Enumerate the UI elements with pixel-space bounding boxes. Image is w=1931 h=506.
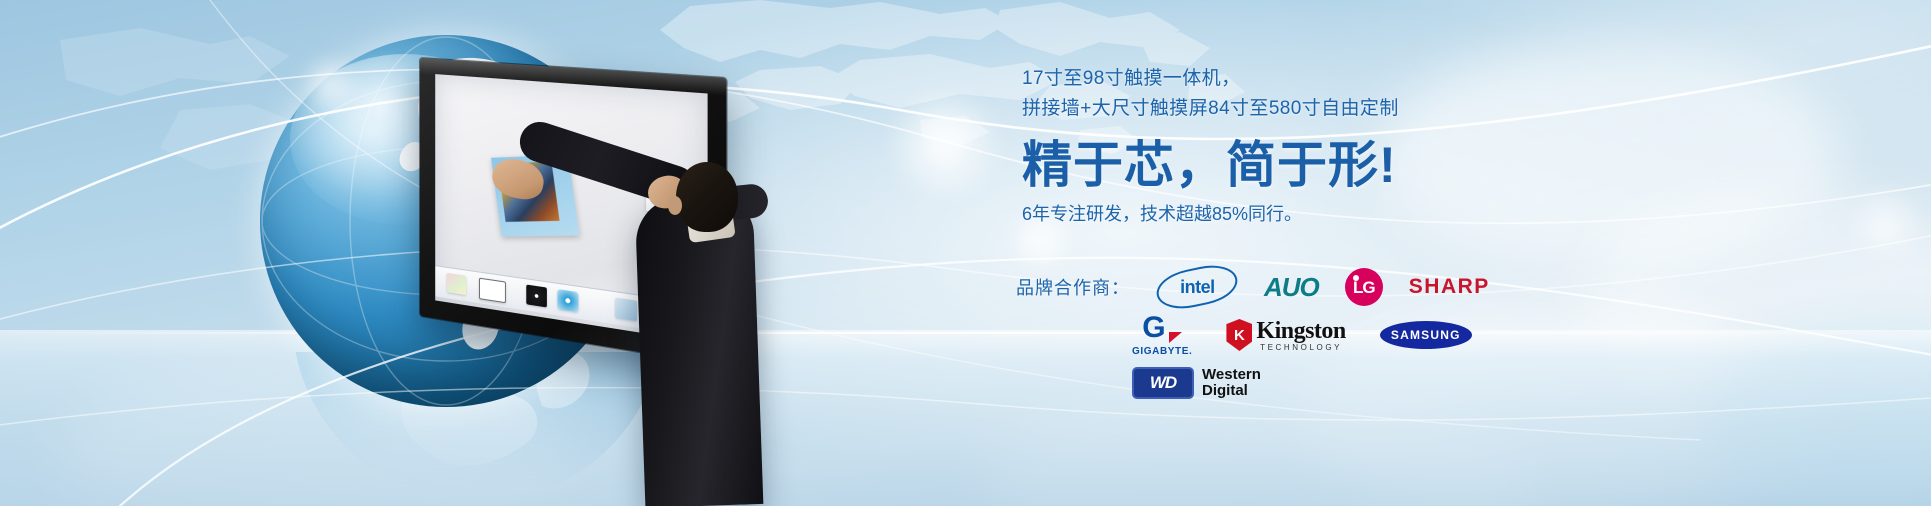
gigabyte-logo-text: GIGABYTE. [1132, 346, 1192, 357]
partner-logos: 品牌合作商： intel AUO LG SHARP G GIGABYTE. K [1016, 263, 1776, 407]
cloud-haze [980, 400, 1540, 506]
sharp-logo: SHARP [1409, 275, 1490, 299]
screen-photo-thumbnail [491, 154, 579, 236]
lead-line-1: 17寸至98寸触摸一体机， [1022, 64, 1742, 94]
partner-row-2: G GIGABYTE. K Kingston TECHNOLOGY SAMSUN… [1016, 311, 1776, 359]
lg-logo-text: LG [1353, 278, 1375, 298]
kingston-logo-mark: K [1226, 319, 1252, 351]
app-icon [615, 298, 637, 322]
lg-logo: LG [1345, 268, 1383, 306]
wd-logo-mark: WD [1132, 367, 1194, 399]
intel-logo: intel [1153, 260, 1241, 314]
gigabyte-logo-triangle [1169, 332, 1182, 343]
lead-line-2: 拼接墙+大尺寸触摸屏84寸至580寸自由定制 [1022, 94, 1742, 124]
media-disc-icon [526, 285, 547, 308]
browser-icon [557, 289, 578, 312]
display-screen [435, 74, 707, 343]
screen-photo-thumbnail [656, 208, 707, 278]
partner-row-3: WD Western Digital [1016, 359, 1776, 407]
partner-row-1: 品牌合作商： intel AUO LG SHARP [1016, 263, 1776, 311]
auo-logo: AUO [1264, 272, 1319, 303]
gigabyte-logo: G GIGABYTE. [1132, 314, 1192, 357]
light-flare [885, 85, 1005, 205]
marketing-copy: 17寸至98寸触摸一体机， 拼接墙+大尺寸触摸屏84寸至580寸自由定制 精于芯… [1022, 64, 1742, 228]
light-flare [1845, 185, 1925, 265]
kingston-logo-text: Kingston [1256, 319, 1345, 343]
western-digital-logo: WD Western Digital [1132, 367, 1261, 399]
wd-logo-subtext: Digital [1202, 383, 1261, 399]
sub-headline: 6年专注研发，技术超越85%同行。 [1022, 200, 1742, 228]
samsung-logo-text: SAMSUNG [1391, 328, 1461, 342]
touch-screen-display [420, 58, 726, 366]
headline: 精于芯，简于形! [1022, 136, 1742, 194]
notes-icon [447, 273, 466, 295]
wd-logo-text: Western [1202, 367, 1261, 383]
gigabyte-logo-mark: G [1142, 314, 1165, 342]
samsung-logo: SAMSUNG [1380, 321, 1472, 349]
kingston-logo: K Kingston TECHNOLOGY [1226, 319, 1345, 352]
display-bezel [420, 58, 726, 366]
intel-logo-text: intel [1180, 277, 1215, 298]
document-icon [479, 278, 506, 304]
kingston-logo-subtext: TECHNOLOGY [1256, 344, 1345, 352]
hero-banner: 17寸至98寸触摸一体机， 拼接墙+大尺寸触摸屏84寸至580寸自由定制 精于芯… [0, 0, 1931, 506]
partners-label: 品牌合作商： [1016, 274, 1130, 300]
